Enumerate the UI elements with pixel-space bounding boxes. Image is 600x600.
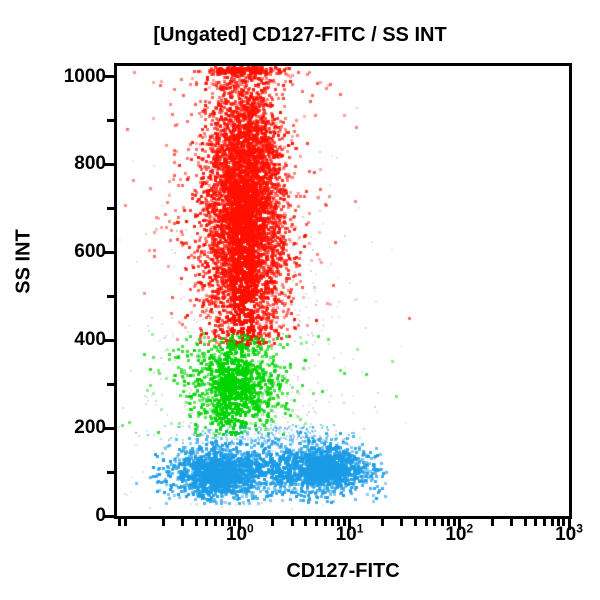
x-axis-minor-tick <box>233 519 236 526</box>
y-tick-label: 400 <box>36 329 106 351</box>
x-axis-minor-tick <box>118 519 121 526</box>
x-axis-minor-tick <box>331 519 334 526</box>
y-axis-minor-tick <box>107 471 114 474</box>
x-axis-minor-tick <box>228 519 231 526</box>
x-axis-minor-tick <box>337 519 340 526</box>
y-axis-major-tick <box>103 339 114 342</box>
x-axis-minor-tick <box>304 519 307 526</box>
y-tick-label: 800 <box>36 153 106 175</box>
x-axis-minor-tick <box>441 519 444 526</box>
x-axis-minor-tick <box>400 519 403 526</box>
x-axis-minor-tick <box>433 519 436 526</box>
y-axis-minor-tick <box>107 383 114 386</box>
x-axis-minor-tick <box>491 519 494 526</box>
x-axis-minor-tick <box>381 519 384 526</box>
y-axis-major-tick <box>103 163 114 166</box>
plot-frame <box>114 63 572 519</box>
y-axis-major-tick <box>103 251 114 254</box>
y-tick-label: 0 <box>36 505 106 527</box>
x-axis-minor-tick <box>181 519 184 526</box>
y-tick-label: 1000 <box>36 66 106 88</box>
x-axis-minor-tick <box>324 519 327 526</box>
x-axis-minor-tick <box>425 519 428 526</box>
x-axis-label: CD127-FITC <box>114 560 572 583</box>
x-axis-minor-tick <box>510 519 513 526</box>
x-axis-minor-tick <box>534 519 537 526</box>
x-axis-major-tick <box>348 519 351 530</box>
y-axis-major-tick <box>103 515 114 518</box>
x-axis-major-tick <box>568 519 571 530</box>
y-axis-major-tick <box>103 427 114 430</box>
x-axis-minor-tick <box>343 519 346 526</box>
y-axis-label: SS INT <box>13 172 36 352</box>
flow-cytometry-plot: [Ungated] CD127-FITC / SS INT 0200400600… <box>0 0 600 600</box>
y-axis-major-tick <box>103 75 114 78</box>
x-axis-minor-tick <box>562 519 565 526</box>
x-axis-minor-tick <box>315 519 318 526</box>
x-axis-major-tick <box>458 519 461 530</box>
x-axis-minor-tick <box>551 519 554 526</box>
x-axis-minor-tick <box>124 519 127 526</box>
x-axis-minor-tick <box>453 519 456 526</box>
y-axis-minor-tick <box>107 207 114 210</box>
x-axis-minor-tick <box>271 519 274 526</box>
x-axis-minor-tick <box>524 519 527 526</box>
x-axis-minor-tick <box>195 519 198 526</box>
x-axis-minor-tick <box>447 519 450 526</box>
x-axis-minor-tick <box>221 519 224 526</box>
y-axis-minor-tick <box>107 295 114 298</box>
x-axis-minor-tick <box>205 519 208 526</box>
y-axis-minor-tick <box>107 119 114 122</box>
y-tick-label: 600 <box>36 241 106 263</box>
x-axis-minor-tick <box>557 519 560 526</box>
x-axis-minor-tick <box>162 519 165 526</box>
x-axis-minor-tick <box>414 519 417 526</box>
y-axis-tick-labels: 02004006008001000 <box>28 0 106 600</box>
x-axis-minor-tick <box>214 519 217 526</box>
y-tick-label: 200 <box>36 417 106 439</box>
scatter-canvas <box>117 66 569 516</box>
x-axis-minor-tick <box>543 519 546 526</box>
x-axis-major-tick <box>238 519 241 530</box>
x-axis-minor-tick <box>291 519 294 526</box>
